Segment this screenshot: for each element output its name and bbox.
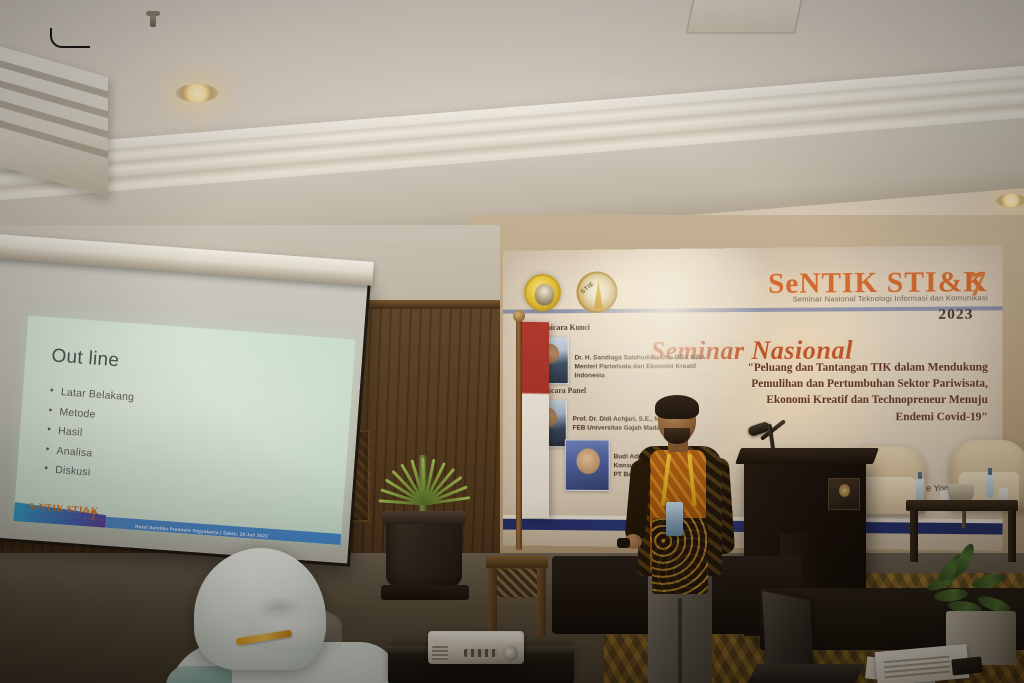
flag-pole [516, 318, 522, 550]
banner-brand-logo: SeNTIK STI&K Seminar Nasional Teknologi … [754, 268, 988, 304]
slide-bullet: Metode [48, 405, 133, 423]
attendee-hijab [194, 548, 326, 670]
presentation-clicker [617, 538, 630, 548]
slide-bullet-list: Latar Belakang Metode Hasil Analisa Disk… [43, 385, 134, 488]
slide-footer-edition: 7 [89, 508, 97, 524]
banner-theme-text: "Peluang dan Tantangan TIK dalam Menduku… [736, 359, 988, 425]
podium-emblem-plaque [828, 478, 860, 510]
flag-stand-leg [537, 568, 546, 636]
speaker-keynote-affiliation: Menteri Pariwisata dan Ekonomi Kreatif I… [575, 363, 723, 381]
projector-cable [50, 28, 90, 48]
projector-ports [464, 649, 498, 657]
presenter-name-badge [666, 502, 683, 536]
downlight-icon [176, 84, 218, 102]
side-table [906, 500, 1018, 511]
speaker-keynote-info: Dr. H. Sandiaga Salahuddin Uno BBA MBA M… [575, 354, 723, 381]
slide-bullet: Hasil [47, 424, 132, 442]
slide-bullet: Latar Belakang [50, 385, 135, 403]
projector-top-panel [430, 632, 522, 643]
armchair-leg [962, 508, 966, 528]
plant-pot-rim [382, 511, 466, 524]
laptop-keyboard-base [747, 664, 866, 683]
water-bottle [986, 474, 994, 498]
stie-logo-icon: STIE [576, 271, 617, 313]
indonesian-flag [521, 322, 549, 519]
projector-vent-icon [432, 646, 448, 660]
stie-logo-text: STIE [580, 281, 595, 295]
projector-lens-icon [503, 646, 518, 661]
flag-pole-finial [513, 310, 525, 322]
slide-bullet: Analisa [45, 444, 130, 462]
attendee-shawl [166, 666, 232, 683]
flag-stand-leg [488, 568, 497, 636]
downlight-icon [996, 194, 1024, 207]
seated-attendee [160, 548, 405, 683]
slide-footer: SeNTIK STI&K Seminar Nasional Teknologi … [13, 502, 342, 545]
speaker-keynote-name: Dr. H. Sandiaga Salahuddin Uno BBA MBA [575, 354, 723, 363]
sprinkler-head-icon [150, 14, 156, 27]
seminar-room-photo: Out line Latar Belakang Metode Hasil Ana… [0, 0, 1024, 683]
banner-brand-year: 2023 [938, 306, 973, 323]
presenter-beard [664, 428, 690, 444]
small-dark-object [951, 656, 983, 675]
banner-top-divider [503, 306, 1002, 313]
projector [428, 631, 524, 664]
presentation-slide: Out line Latar Belakang Metode Hasil Ana… [13, 316, 355, 545]
flag-stand [486, 556, 548, 636]
hijab-fold [246, 608, 342, 652]
presenter [626, 398, 736, 683]
slide-bullet: Diskusi [44, 463, 129, 481]
ceiling-access-hatch [685, 0, 804, 34]
speaker-photo-panel-2 [565, 439, 610, 491]
foliage-plant [918, 535, 1022, 621]
banner-brand-edition: 7 [968, 266, 986, 305]
flag-stand-carving [494, 568, 540, 598]
presenter-hair [655, 395, 699, 419]
stik-seal-logo-icon [524, 274, 561, 312]
projection-screen: Out line Latar Belakang Metode Hasil Ana… [0, 252, 371, 567]
slide-title: Out line [51, 345, 120, 372]
water-bottle [916, 478, 924, 502]
palm-plant-fronds [423, 458, 425, 460]
side-table-leg [910, 510, 918, 562]
podium-desktop [735, 448, 879, 464]
